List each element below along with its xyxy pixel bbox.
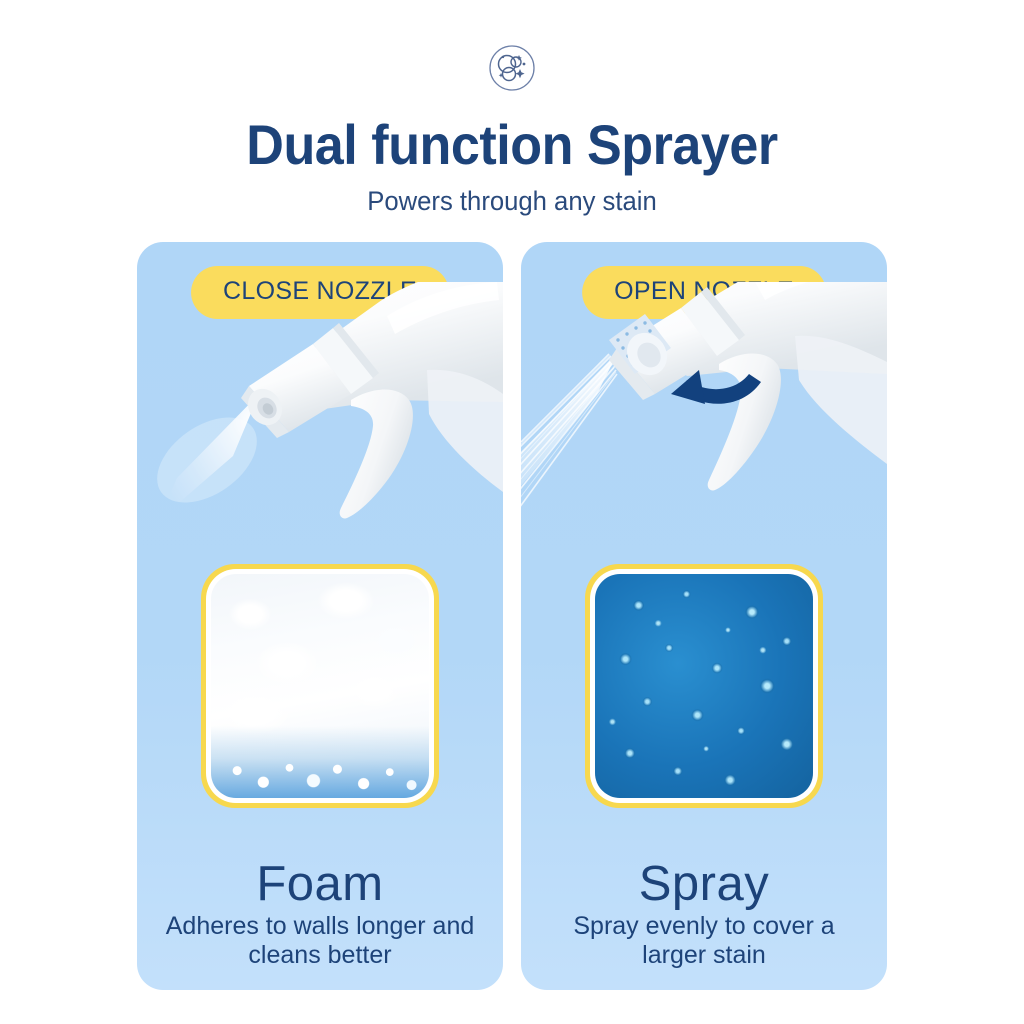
panel-close-nozzle: CLOSE NOZZLE — [137, 242, 503, 990]
foam-texture — [211, 574, 429, 798]
inset-frame-foam — [201, 564, 439, 808]
panel-open-nozzle: OPEN NOZZLE — [521, 242, 887, 990]
badge-open-nozzle[interactable]: OPEN NOZZLE — [582, 266, 826, 319]
infographic-page: Dual function Sprayer Powers through any… — [0, 0, 1024, 1024]
foam-bubbles — [211, 726, 429, 798]
inset-white-gap — [206, 569, 434, 803]
page-title: Dual function Sprayer — [36, 112, 988, 177]
caption-desc-spray: Spray evenly to cover a larger stain — [521, 912, 887, 971]
wide-fan-spray — [521, 354, 617, 534]
open-nozzle-head — [609, 314, 675, 383]
droplet-texture — [595, 574, 813, 798]
bubbles-sparkle-circle-icon — [484, 40, 540, 96]
trigger-sprayer-icon — [521, 282, 887, 602]
caption-title-foam: Foam — [137, 856, 503, 912]
badge-close-nozzle[interactable]: CLOSE NOZZLE — [191, 266, 449, 319]
inset-white-gap — [590, 569, 818, 803]
trigger-sprayer-icon — [137, 282, 503, 602]
page-subtitle: Powers through any stain — [26, 186, 999, 217]
foam-photo — [211, 574, 429, 798]
rotate-nozzle-arrow-icon — [671, 370, 761, 404]
droplets-photo — [595, 574, 813, 798]
inset-frame-spray — [585, 564, 823, 808]
caption-desc-foam: Adheres to walls longer and cleans bette… — [137, 912, 503, 971]
caption-title-spray: Spray — [521, 856, 887, 912]
